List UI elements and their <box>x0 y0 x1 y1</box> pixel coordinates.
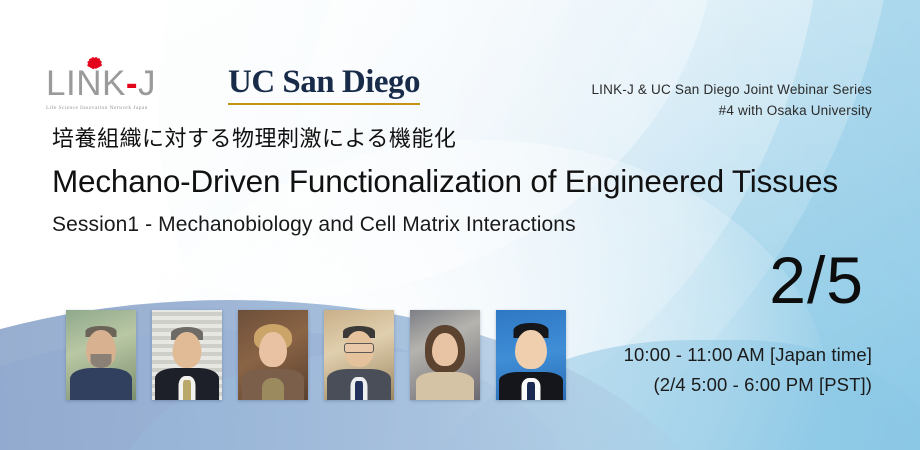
speaker-photo <box>238 310 308 400</box>
session-subtitle: Session1 - Mechanobiology and Cell Matri… <box>52 213 838 237</box>
speaker-photo <box>410 310 480 400</box>
japanese-title: 培養組織に対する物理刺激による機能化 <box>52 126 838 154</box>
event-time-block: 10:00 - 11:00 AM [Japan time] (2/4 5:00 … <box>624 340 872 399</box>
speaker-photo <box>324 310 394 400</box>
series-line-1: LINK-J & UC San Diego Joint Webinar Seri… <box>591 80 872 101</box>
speaker-photo-row <box>66 310 566 400</box>
linkj-word-link: LINK <box>46 64 126 103</box>
title-block: 培養組織に対する物理刺激による機能化 Mechano-Driven Functi… <box>52 126 838 237</box>
english-title: Mechano-Driven Functionalization of Engi… <box>52 161 838 202</box>
linkj-wordmark: LINK-J <box>46 66 188 101</box>
series-label: LINK-J & UC San Diego Joint Webinar Seri… <box>591 80 872 122</box>
linkj-tagline: Life Science Innovation Network Japan <box>46 105 188 111</box>
linkj-logo: LINK-J Life Science Innovation Network J… <box>46 44 188 111</box>
event-date: 2/5 <box>769 247 864 313</box>
ucsd-logo: UC San Diego <box>228 66 420 111</box>
event-time-japan: 10:00 - 11:00 AM [Japan time] <box>624 340 872 370</box>
linkj-word-j: J <box>138 64 156 103</box>
ucsd-rule <box>228 103 420 105</box>
speaker-photo <box>152 310 222 400</box>
speaker-photo <box>66 310 136 400</box>
speaker-photo <box>496 310 566 400</box>
event-time-pst: (2/4 5:00 - 6:00 PM [PST]) <box>624 370 872 400</box>
ucsd-wordmark: UC San Diego <box>228 66 420 99</box>
sunburst-icon <box>72 44 118 68</box>
series-line-2: #4 with Osaka University <box>591 101 872 122</box>
webinar-banner: LINK-J Life Science Innovation Network J… <box>0 0 920 450</box>
logo-row: LINK-J Life Science Innovation Network J… <box>46 44 420 111</box>
linkj-dash: - <box>126 64 138 103</box>
